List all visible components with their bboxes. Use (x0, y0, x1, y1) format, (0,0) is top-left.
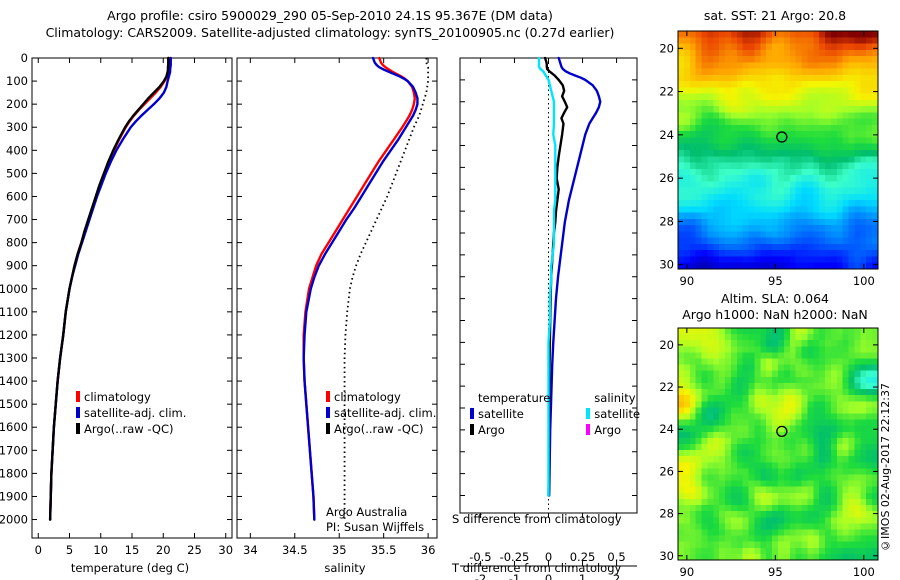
attribution-pi: PI: Susan Wijffels (326, 520, 424, 534)
profile-line (345, 58, 429, 520)
axis-tick-label: 90 (680, 274, 695, 288)
axis-tick-label: 1900 (0, 489, 28, 503)
plot-frame (237, 58, 437, 538)
axis-tick-label: -28 (660, 214, 674, 228)
legend-item: Argo(..raw -QC) (326, 422, 436, 436)
axis-tick-label: 95 (768, 274, 783, 288)
axis-tick-label: 700 (6, 213, 28, 227)
attribution-block: Argo Australia PI: Susan Wijffels (326, 505, 424, 534)
axis-tick-label: -24 (660, 422, 674, 436)
axis-tick-label: 5 (66, 543, 73, 557)
axis-tick-label: 36 (421, 543, 436, 557)
axis-tick-label: 1600 (0, 420, 28, 434)
color-swatch-salinity-satellite (586, 408, 590, 419)
axis-tick-label: 1500 (0, 397, 28, 411)
axis-tick-label: 0 (35, 543, 42, 557)
difference-legend: temperature satellite Argo salinity sate… (470, 391, 640, 437)
axis-tick-label: 0 (21, 51, 28, 65)
difference-panel: -0.5-0.2500.250.5-2-1012 (450, 40, 655, 580)
legend-label: Argo(..raw -QC) (84, 422, 174, 436)
axis-tick-label: 300 (6, 120, 28, 134)
axis-tick-label: 1000 (0, 282, 28, 296)
legend-item: Argo (470, 423, 550, 437)
axis-tick-label: 1700 (0, 443, 28, 457)
profile-line (50, 58, 171, 520)
legend-label: Argo(..raw -QC) (334, 422, 424, 436)
temperature-legend: climatology satellite-adj. clim. Argo(..… (76, 390, 186, 436)
temperature-xaxis-label: temperature (deg C) (20, 561, 240, 575)
sst-map: -20-22-24-26-28-309095100 (660, 25, 895, 290)
axis-tick-label: 35.5 (371, 543, 397, 557)
axis-tick-label: -30 (660, 549, 674, 563)
legend-label: climatology (84, 390, 151, 404)
legend-item: satellite-adj. clim. (76, 406, 186, 420)
profile-line (304, 58, 415, 520)
axis-tick-label: 90 (680, 565, 695, 579)
axis-tick-label: 15 (125, 543, 140, 557)
legend-item: satellite-adj. clim. (326, 406, 436, 420)
color-swatch-climatology (76, 391, 80, 402)
sla-map: -20-22-24-26-28-309095100 (660, 322, 895, 580)
difference-t-axis-label: T difference from climatology (452, 561, 652, 575)
axis-tick-label: -24 (660, 128, 674, 142)
axis-tick-label: -20 (660, 41, 674, 55)
legend-label: satellite (478, 407, 524, 421)
axis-tick-label: 400 (6, 143, 28, 157)
heatmap-cells (678, 31, 879, 270)
difference-legend-temperature-col: temperature satellite Argo (470, 391, 550, 437)
legend-label: Argo (478, 423, 505, 437)
profile-line (50, 58, 168, 520)
legend-item: climatology (326, 390, 436, 404)
axis-tick-label: 35 (332, 543, 347, 557)
axis-tick-label: 100 (853, 565, 875, 579)
color-swatch-climatology (326, 391, 330, 402)
sla-map-title-line1: Altim. SLA: 0.064 (660, 291, 890, 306)
difference-s-axis-label: S difference from climatology (452, 512, 652, 526)
axis-tick-label: 25 (187, 543, 202, 557)
axis-tick-label: 1800 (0, 466, 28, 480)
axis-tick-label: 2000 (0, 513, 28, 527)
legend-label: satellite (594, 407, 640, 421)
color-swatch-salinity-argo (586, 424, 590, 435)
axis-tick-label: 1100 (0, 305, 28, 319)
legend-header-salinity: salinity (594, 391, 640, 405)
legend-header-temperature: temperature (478, 391, 550, 405)
sst-map-title: sat. SST: 21 Argo: 20.8 (660, 8, 890, 23)
legend-item: Argo(..raw -QC) (76, 422, 186, 436)
salinity-xaxis-label: salinity (240, 561, 450, 575)
legend-item: satellite (470, 407, 550, 421)
page-title-line2: Climatology: CARS2009. Satellite-adjuste… (0, 25, 660, 40)
difference-legend-salinity-col: salinity satellite Argo (586, 391, 640, 437)
axis-tick-label: 95 (768, 565, 783, 579)
legend-label: Argo (594, 423, 621, 437)
legend-item: satellite (586, 407, 640, 421)
axis-tick-label: 20 (156, 543, 171, 557)
profile-line (304, 58, 418, 520)
salinity-panel: 3434.53535.536 (225, 40, 455, 580)
color-swatch-argo (326, 423, 330, 434)
axis-tick-label: 1300 (0, 351, 28, 365)
axis-tick-label: 1400 (0, 374, 28, 388)
profile-line (50, 58, 169, 520)
color-swatch-satellite-adj (76, 407, 80, 418)
color-swatch-satellite-adj (326, 407, 330, 418)
axis-tick-label: 200 (6, 97, 28, 111)
axis-tick-label: 800 (6, 236, 28, 250)
temperature-panel: 0100200300400500600700800900100011001200… (0, 40, 240, 580)
axis-tick-label: -26 (660, 464, 674, 478)
axis-tick-label: 900 (6, 259, 28, 273)
legend-label: climatology (334, 390, 401, 404)
axis-tick-label: 10 (93, 543, 108, 557)
legend-label: satellite-adj. clim. (84, 406, 186, 420)
legend-label: satellite-adj. clim. (334, 406, 436, 420)
axis-tick-label: -30 (660, 258, 674, 272)
salinity-legend: climatology satellite-adj. clim. Argo(..… (326, 390, 436, 436)
color-swatch-satellite (470, 408, 474, 419)
axis-tick-label: -26 (660, 171, 674, 185)
axis-tick-label: 100 (6, 74, 28, 88)
axis-tick-label: 500 (6, 166, 28, 180)
credit-text: ©IMOS 02-Aug-2017 22:12:37 (879, 383, 892, 552)
legend-item: Argo (586, 423, 640, 437)
axis-tick-label: 34 (243, 543, 258, 557)
axis-tick-label: -28 (660, 507, 674, 521)
page-title-line1: Argo profile: csiro 5900029_290 05-Sep-2… (0, 8, 660, 23)
color-swatch-argo (470, 424, 474, 435)
plot-frame (32, 58, 232, 538)
axis-tick-label: -22 (660, 380, 674, 394)
axis-tick-label: 1200 (0, 328, 28, 342)
heatmap-cells (678, 328, 879, 561)
axis-tick-label: 600 (6, 189, 28, 203)
attribution-org: Argo Australia (326, 505, 424, 519)
axis-tick-label: -22 (660, 85, 674, 99)
sla-map-title-line2: Argo h1000: NaN h2000: NaN (655, 307, 895, 322)
legend-item: climatology (76, 390, 186, 404)
color-swatch-argo (76, 423, 80, 434)
axis-tick-label: -20 (660, 338, 674, 352)
axis-tick-label: 100 (853, 274, 875, 288)
axis-tick-label: 34.5 (282, 543, 308, 557)
